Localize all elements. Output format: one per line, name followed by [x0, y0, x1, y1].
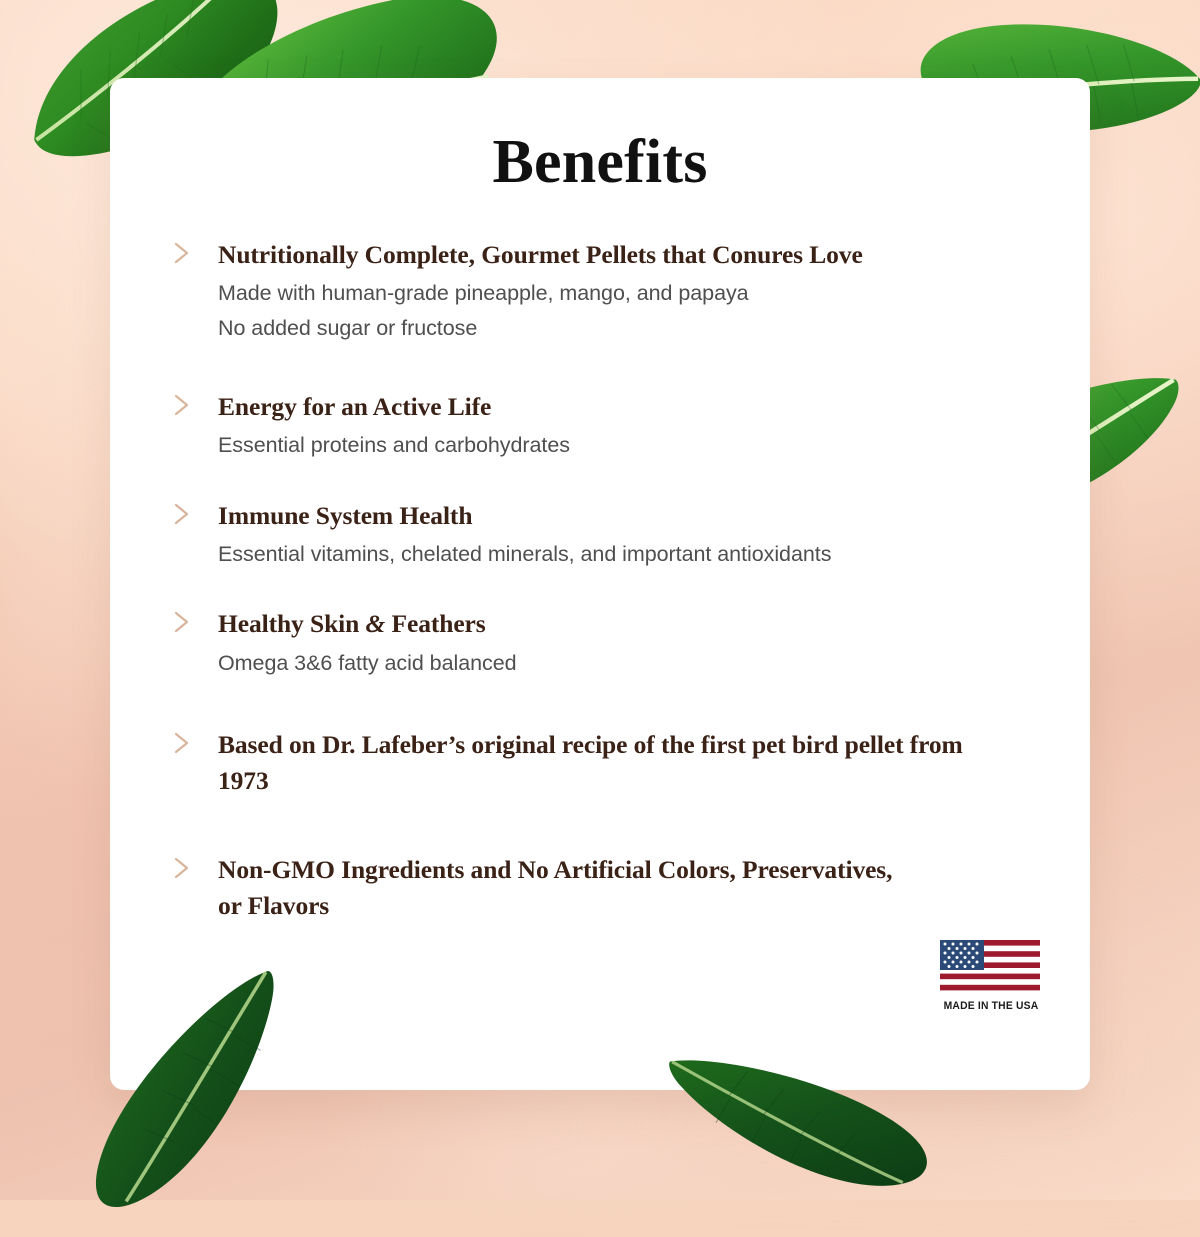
- benefit-item: Healthy Skin & Feathers Omega 3&6 fatty …: [170, 606, 1030, 679]
- benefit-list: Nutritionally Complete, Gourmet Pellets …: [170, 237, 1030, 924]
- chevron-right-icon: [172, 502, 192, 526]
- benefit-sub-list: Made with human-grade pineapple, mango, …: [218, 277, 1030, 344]
- benefit-heading: Healthy Skin & Feathers: [218, 606, 1030, 642]
- page-title: Benefits: [170, 130, 1030, 195]
- benefit-heading: Nutritionally Complete, Gourmet Pellets …: [218, 237, 1030, 273]
- benefit-sub-list: Essential proteins and carbohydrates: [218, 429, 1030, 462]
- benefit-subtext: No added sugar or fructose: [218, 312, 1030, 345]
- ampersand-glyph: &: [366, 609, 386, 638]
- benefit-heading: Based on Dr. Lafeber’s original recipe o…: [218, 727, 1008, 799]
- benefit-heading: Non-GMO Ingredients and No Artificial Co…: [218, 852, 898, 924]
- benefit-sub-list: Omega 3&6 fatty acid balanced: [218, 647, 1030, 680]
- made-in-usa-badge: MADE IN THE USA: [940, 940, 1042, 1012]
- benefit-subtext: Essential proteins and carbohydrates: [218, 429, 1030, 462]
- benefit-subtext: Omega 3&6 fatty acid balanced: [218, 647, 1030, 680]
- benefit-heading: Immune System Health: [218, 498, 1030, 534]
- benefit-subtext: Made with human-grade pineapple, mango, …: [218, 277, 1030, 310]
- benefit-heading-pre: Healthy Skin: [218, 609, 366, 638]
- chevron-right-icon: [172, 610, 192, 634]
- benefit-item: Nutritionally Complete, Gourmet Pellets …: [170, 237, 1030, 345]
- benefit-heading: Energy for an Active Life: [218, 389, 1030, 425]
- benefit-subtext: Essential vitamins, chelated minerals, a…: [218, 538, 1030, 571]
- made-in-usa-label: MADE IN THE USA: [943, 1000, 1039, 1012]
- benefit-item: Non-GMO Ingredients and No Artificial Co…: [170, 852, 1030, 924]
- benefit-item: Based on Dr. Lafeber’s original recipe o…: [170, 727, 1030, 799]
- chevron-right-icon: [172, 731, 192, 755]
- benefits-card: Benefits Nutritionally Complete, Gourmet…: [110, 78, 1090, 1090]
- benefit-sub-list: Essential vitamins, chelated minerals, a…: [218, 538, 1030, 571]
- usa-flag-icon: [940, 940, 1040, 996]
- chevron-right-icon: [172, 856, 192, 880]
- benefit-item: Immune System Health Essential vitamins,…: [170, 498, 1030, 571]
- benefit-item: Energy for an Active Life Essential prot…: [170, 389, 1030, 462]
- benefit-heading-post: Feathers: [385, 609, 485, 638]
- chevron-right-icon: [172, 241, 192, 265]
- chevron-right-icon: [172, 393, 192, 417]
